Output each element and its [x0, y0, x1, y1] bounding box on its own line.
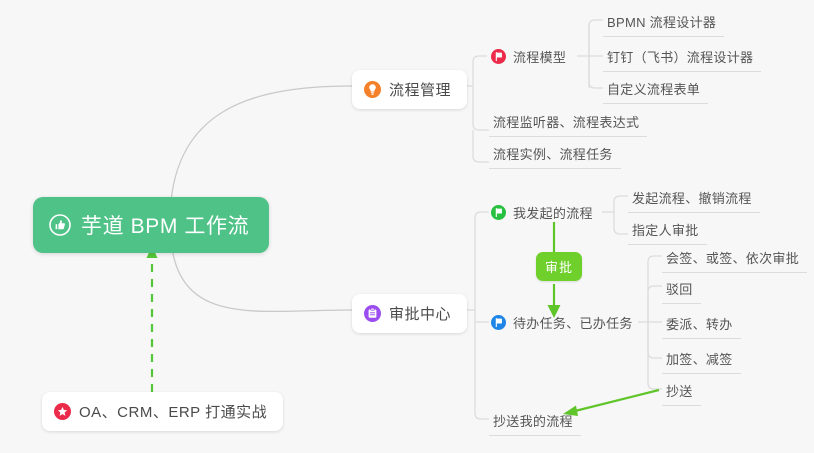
approval-badge: 审批	[536, 252, 582, 281]
node-cc[interactable]: 抄送	[662, 377, 701, 406]
thumbs-up-icon	[49, 214, 71, 236]
node-reject[interactable]: 驳回	[662, 275, 701, 304]
node-assignee-approval[interactable]: 指定人审批	[628, 216, 707, 245]
node-listener-expression[interactable]: 流程监听器、流程表达式	[489, 108, 647, 137]
connector-pm-to-instance	[473, 130, 489, 162]
node-label: 流程模型	[513, 47, 566, 66]
node-countersign[interactable]: 会签、或签、依次审批	[662, 244, 807, 273]
bottom-node-label: OA、CRM、ERP 打通实战	[79, 401, 267, 422]
connector-tasks-to-addsign	[648, 322, 662, 358]
connector-model-to-bpmn	[577, 20, 603, 56]
branch-process-management[interactable]: 流程管理	[352, 70, 467, 109]
node-todo-done-tasks[interactable]: 待办任务、已办任务	[489, 309, 641, 337]
connector-model-to-customform	[589, 56, 603, 88]
root-node[interactable]: 芋道 BPM 工作流	[33, 197, 269, 253]
connector-my-to-start	[602, 196, 628, 212]
connector-my-to-assignee	[614, 212, 628, 234]
node-label: 发起流程、撤销流程	[632, 188, 752, 207]
lightbulb-icon	[364, 81, 381, 98]
bottom-node-oa-crm-erp[interactable]: OA、CRM、ERP 打通实战	[42, 392, 283, 431]
star-icon	[54, 403, 71, 420]
node-label: 加签、减签	[666, 349, 733, 368]
dashed-arrow-oa-to-root	[147, 246, 158, 392]
connector-ac-to-cc-processes	[475, 322, 489, 419]
node-label: 自定义流程表单	[607, 79, 700, 98]
node-delegate-transfer[interactable]: 委派、转办	[662, 310, 741, 339]
branch-label: 流程管理	[389, 79, 451, 100]
node-label: 待办任务、已办任务	[513, 313, 633, 332]
connector-tasks-to-reject	[648, 286, 662, 322]
node-label: BPMN 流程设计器	[607, 12, 716, 31]
node-start-cancel-process[interactable]: 发起流程、撤销流程	[628, 184, 760, 213]
node-label: 流程监听器、流程表达式	[493, 112, 639, 131]
connector-ac-to-tasks	[475, 310, 489, 322]
node-label: 抄送我的流程	[493, 411, 573, 430]
node-my-initiated-processes[interactable]: 我发起的流程	[489, 199, 601, 227]
node-label: 抄送	[666, 381, 693, 400]
node-label: 会签、或签、依次审批	[666, 248, 799, 267]
node-process-model[interactable]: 流程模型	[489, 43, 574, 71]
node-instance-task[interactable]: 流程实例、流程任务	[489, 140, 621, 169]
node-cc-my-processes[interactable]: 抄送我的流程	[489, 407, 581, 436]
branch-label: 审批中心	[389, 303, 451, 324]
flag-icon	[491, 49, 506, 64]
mindmap-canvas: 芋道 BPM 工作流 流程管理 流程模型 BPMN 流程设计器 钉钉（飞书）流程…	[0, 0, 814, 453]
node-label: 驳回	[666, 279, 693, 298]
node-dingtalk-designer[interactable]: 钉钉（飞书）流程设计器	[603, 43, 761, 72]
root-label: 芋道 BPM 工作流	[81, 210, 249, 240]
node-bpmn-designer[interactable]: BPMN 流程设计器	[603, 8, 724, 37]
flag-icon	[491, 315, 506, 330]
connector-pm-to-listener	[473, 86, 489, 130]
node-add-remove-sign[interactable]: 加签、减签	[662, 345, 741, 374]
flag-icon	[491, 205, 506, 220]
connector-ac-to-my-processes	[475, 212, 489, 310]
approval-badge-label: 审批	[545, 257, 573, 276]
node-label: 流程实例、流程任务	[493, 144, 613, 163]
node-label: 指定人审批	[632, 220, 699, 239]
node-custom-form[interactable]: 自定义流程表单	[603, 75, 708, 104]
node-label: 钉钉（飞书）流程设计器	[607, 47, 753, 66]
node-label: 委派、转办	[666, 314, 733, 333]
clipboard-icon	[364, 305, 381, 322]
connector-tasks-to-cc	[648, 322, 662, 389]
connector-pm-to-model	[473, 56, 487, 86]
branch-approval-center[interactable]: 审批中心	[352, 294, 467, 333]
connector-tasks-to-countersign	[638, 256, 662, 322]
node-label: 我发起的流程	[513, 203, 593, 222]
